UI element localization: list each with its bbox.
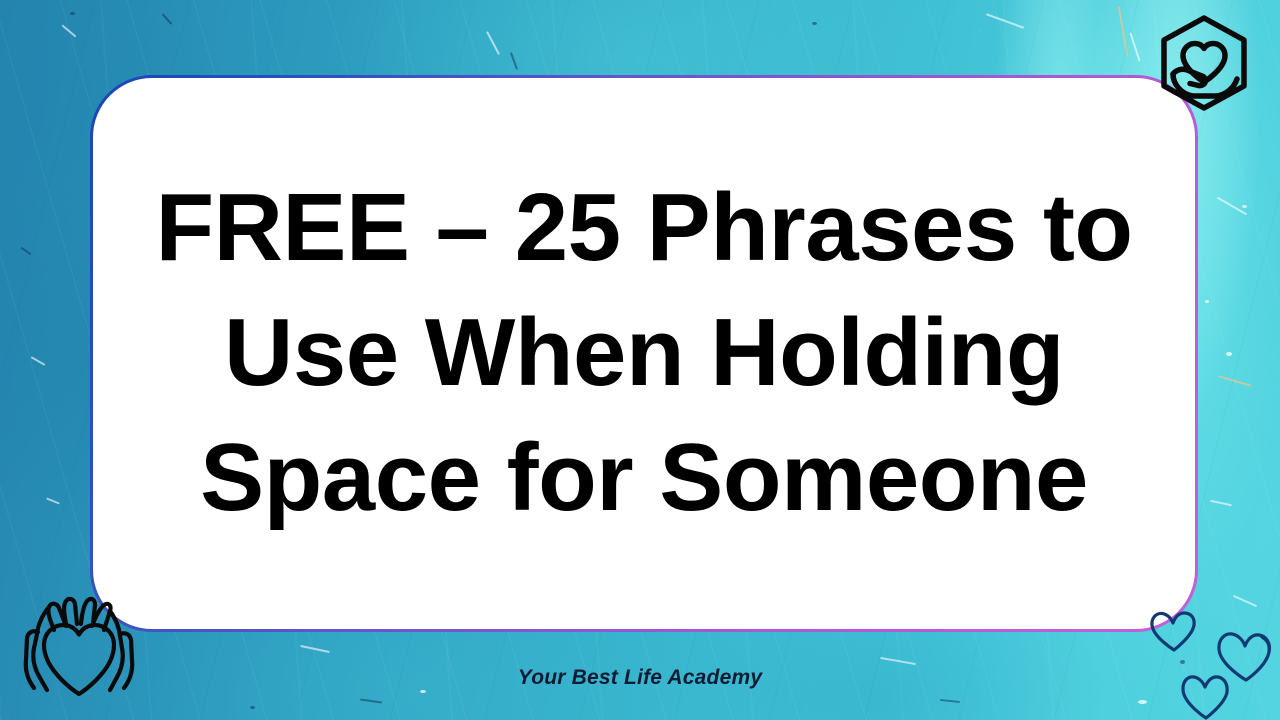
paint-streak [1129,32,1140,61]
headline-card: FREE – 25 Phrases to Use When Holding Sp… [90,75,1198,632]
paint-streak [21,247,32,256]
hands-holding-heart-icon [14,586,144,710]
hand-drawn-hearts-icon [1134,592,1280,720]
paint-streak [300,645,330,653]
paint-streak [880,657,916,665]
paint-fleck [1226,352,1232,356]
paint-streak [486,31,500,55]
paint-streak [162,13,173,25]
paint-streak [1217,197,1247,216]
paint-streak [940,699,960,703]
paint-fleck [250,706,255,709]
paint-streak [986,13,1024,29]
paint-fleck [1242,205,1247,208]
page-title: FREE – 25 Phrases to Use When Holding Sp… [93,166,1195,540]
paint-streak [1218,375,1251,386]
paint-fleck [812,22,817,25]
paint-streak [31,356,46,366]
brand-name: Your Best Life Academy [0,666,1280,690]
hexagon-heart-in-hand-icon [1152,12,1256,116]
paint-streak [1210,500,1232,507]
headline-line-3: Space for Someone [119,416,1169,541]
paint-streak [510,52,518,70]
paint-streak [1118,6,1129,56]
paint-streak [61,24,76,37]
paint-fleck [1205,300,1209,303]
paint-fleck [70,12,75,15]
paint-fleck [420,690,426,693]
paint-streak [360,698,382,703]
paint-streak [46,497,60,504]
headline-line-2: Use When Holding [119,291,1169,416]
headline-line-1: FREE – 25 Phrases to [119,166,1169,291]
